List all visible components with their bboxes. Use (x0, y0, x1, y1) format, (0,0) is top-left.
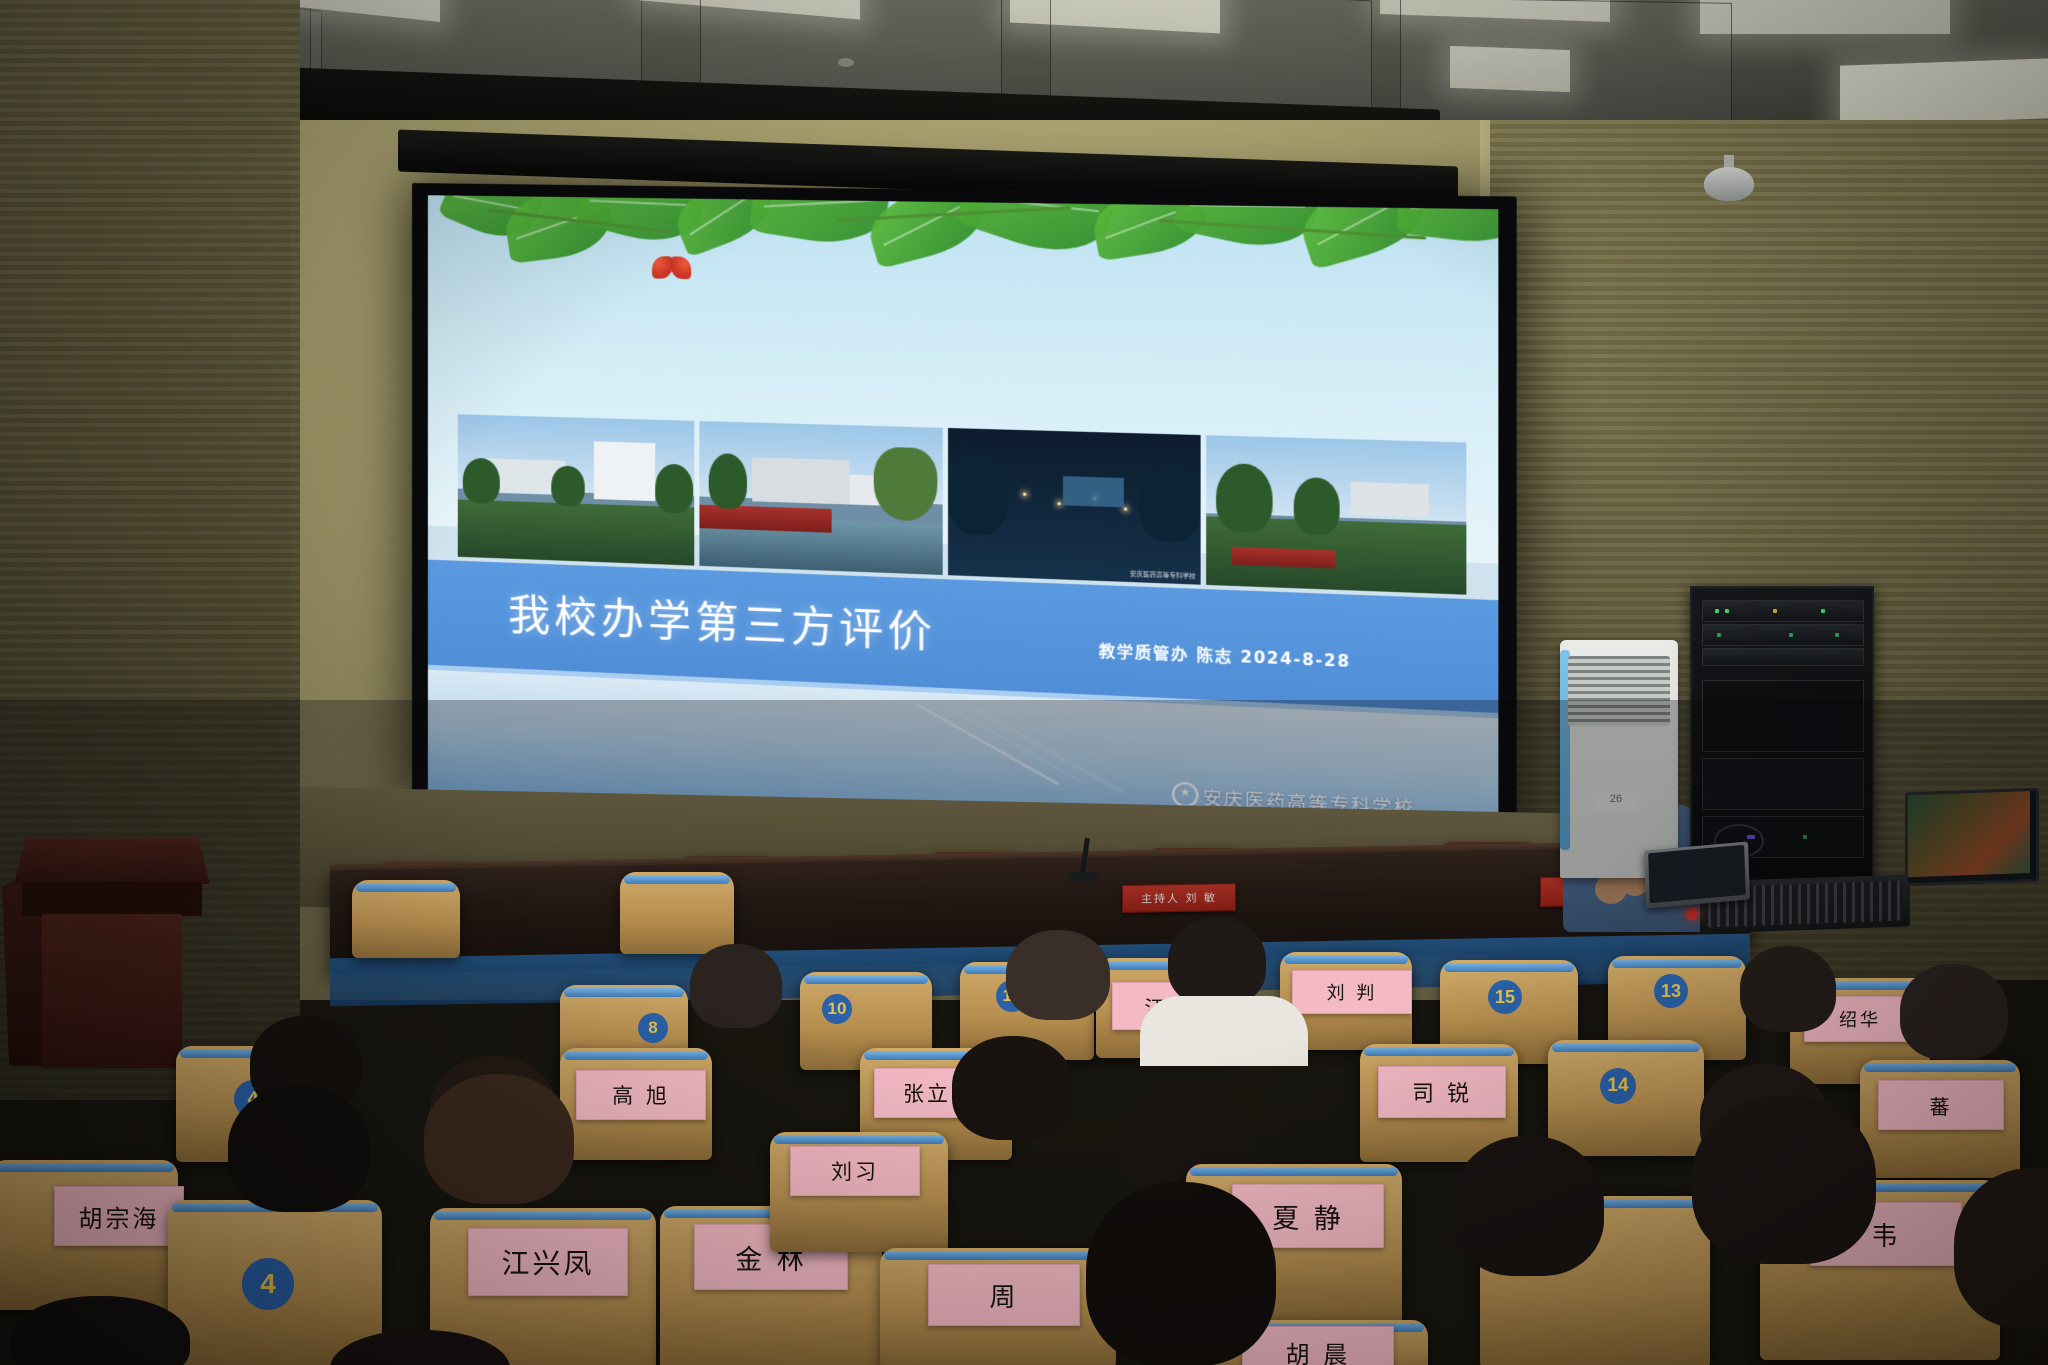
butterfly-icon (652, 254, 693, 285)
seat[interactable] (620, 872, 734, 954)
name-card: 胡 晨 (1242, 1326, 1394, 1365)
audience-person (690, 944, 782, 1028)
photo-campus-buildings (458, 414, 694, 565)
photo-campus-night: 安庆医药高等专科学校 (948, 428, 1200, 585)
ptz-camera (1700, 155, 1758, 201)
audience-person (228, 1086, 370, 1212)
seat[interactable]: 4 (168, 1200, 382, 1365)
name-card: 江兴凤 (468, 1228, 628, 1296)
air-conditioner: 26 (1560, 640, 1678, 878)
ac-temperature-display: 26 (1594, 788, 1638, 810)
audience-person-shoulders (1140, 996, 1308, 1066)
wooden-podium (14, 838, 210, 1068)
audience-person (1006, 930, 1110, 1020)
seat[interactable]: 周 (880, 1248, 1116, 1365)
monitor-screen-content (1908, 791, 2030, 877)
seat[interactable]: 高 旭 (560, 1048, 712, 1160)
name-card: 周 (928, 1264, 1080, 1326)
seat-number: 10 (822, 994, 852, 1024)
name-card: 胡宗海 (54, 1186, 184, 1246)
seat-number: 4 (242, 1258, 294, 1310)
seat[interactable]: 胡宗海 (0, 1160, 178, 1310)
smoke-detector-icon (838, 58, 854, 67)
microphone-base (1070, 872, 1098, 882)
photo-campus-lake (699, 421, 943, 575)
seat-number: 14 (1600, 1068, 1636, 1104)
name-card: 刘习 (790, 1146, 920, 1196)
audience-person (1168, 918, 1266, 1006)
preview-monitor[interactable] (1905, 788, 2039, 887)
camera-dome-icon (1704, 167, 1754, 201)
audience-person (1452, 1136, 1604, 1276)
podium-band (22, 882, 202, 916)
laptop-screen (1648, 845, 1746, 903)
seat-number: 8 (638, 1013, 668, 1043)
presenter-laptop[interactable] (1644, 842, 1750, 909)
ac-vent-grille (1568, 656, 1670, 726)
seat[interactable]: 14 (1548, 1040, 1704, 1156)
name-card: 蕃 (1878, 1080, 2004, 1130)
seat[interactable] (352, 880, 460, 958)
audience-person (1740, 946, 1836, 1032)
seat-number: 15 (1488, 980, 1522, 1014)
audience-person (424, 1074, 574, 1204)
seat-number: 13 (1654, 974, 1688, 1008)
name-card: 高 旭 (576, 1070, 706, 1120)
photo-campus-garden (1206, 435, 1467, 595)
seat[interactable]: 蕃 (1860, 1060, 2020, 1178)
name-card: 司 锐 (1378, 1066, 1506, 1118)
seat[interactable]: 刘习 (770, 1132, 948, 1252)
school-logo-icon: ★ (1172, 781, 1198, 808)
audience-person (952, 1036, 1074, 1140)
name-card: 刘 判 (1292, 970, 1412, 1014)
audience-person (1900, 964, 2008, 1060)
nameplate-host: 主持人 刘 敏 (1122, 883, 1236, 913)
projection-screen[interactable]: 安庆医药高等专科学校 我校办学第三方评价 教学质管办 陈志 2024-8-28 (428, 195, 1498, 849)
audience-person (1086, 1182, 1276, 1365)
podium-body (42, 914, 182, 1068)
podium-top (14, 838, 210, 884)
auditorium-scene: 安庆医药高等专科学校 我校办学第三方评价 教学质管办 陈志 2024-8-28 (0, 0, 2048, 1365)
projection-screen-frame: 安庆医药高等专科学校 我校办学第三方评价 教学质管办 陈志 2024-8-28 (412, 183, 1517, 863)
audience-person (1692, 1096, 1876, 1264)
power-indicator-led (1686, 908, 1698, 920)
